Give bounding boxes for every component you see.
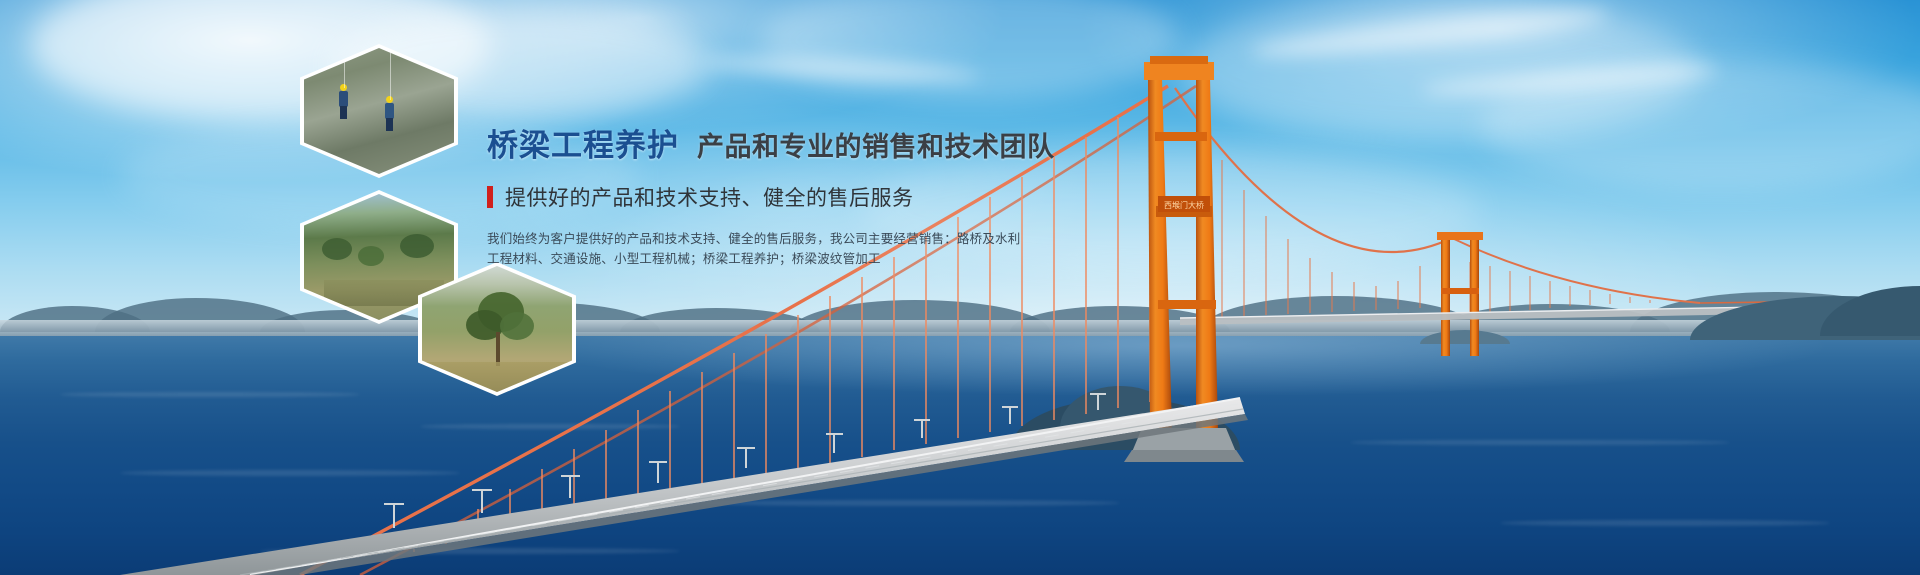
description-line-2: 工程材料、交通设施、小型工程机械；桥梁工程养护；桥梁波纹管加工: [487, 249, 1127, 269]
headline-primary: 桥梁工程养护: [487, 120, 679, 165]
headline-secondary: 产品和专业的销售和技术团队: [697, 125, 1055, 164]
description-paragraph: 我们始终为客户提供好的产品和技术支持、健全的售后服务，我公司主要经营销售：路桥及…: [487, 229, 1127, 269]
svg-text:西堠门大桥: 西堠门大桥: [1164, 200, 1204, 210]
accent-bar: [487, 186, 493, 208]
hero-banner: 西堠门大桥: [0, 0, 1920, 575]
thumbnail-hillside-tree-mesh[interactable]: [418, 262, 576, 396]
subheadline: 提供好的产品和技术支持、健全的售后服务: [487, 182, 1127, 212]
thumbnail-rock-slope-mesh-workers[interactable]: [300, 44, 458, 178]
subheadline-text: 提供好的产品和技术支持、健全的售后服务: [505, 182, 914, 212]
deck-lamp-posts: [384, 394, 1106, 528]
bridge-tower-far: [1437, 232, 1483, 356]
headline: 桥梁工程养护 产品和专业的销售和技术团队: [487, 120, 1127, 165]
banner-copy: 桥梁工程养护 产品和专业的销售和技术团队 提供好的产品和技术支持、健全的售后服务…: [487, 120, 1127, 269]
description-line-1: 我们始终为客户提供好的产品和技术支持、健全的售后服务，我公司主要经营销售：路桥及…: [487, 229, 1127, 249]
thumbnail-photo: [304, 48, 454, 174]
suspension-bridge: 西堠门大桥: [0, 0, 1920, 575]
